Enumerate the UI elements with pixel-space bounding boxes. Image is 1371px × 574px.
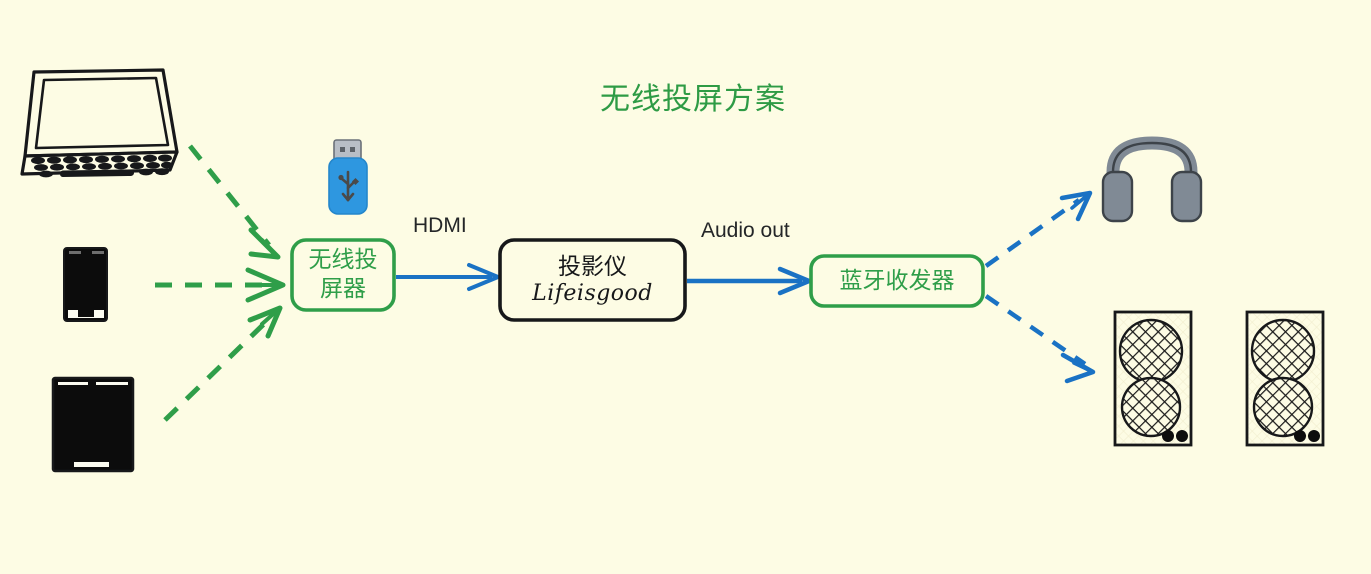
green-dashed-arrow-laptop bbox=[190, 146, 278, 257]
speaker-icon-right bbox=[1247, 312, 1323, 445]
tablet-icon bbox=[53, 378, 133, 471]
green-dashed-arrow-tablet bbox=[165, 308, 280, 420]
diagram-canvas: 无线投屏方案 无线投 屏器 投影仪 Lifeisgood 蓝牙收发器 HDMI … bbox=[0, 0, 1371, 574]
hdmi-connector-arrow bbox=[396, 265, 498, 289]
node-wireless-caster[interactable] bbox=[292, 240, 394, 310]
usb-dongle-icon bbox=[329, 140, 367, 214]
blue-dashed-arrow-headphones bbox=[986, 193, 1090, 266]
laptop-icon bbox=[22, 70, 177, 177]
edge-label-audio-out: Audio out bbox=[701, 219, 790, 243]
speaker-icon-left bbox=[1115, 312, 1191, 445]
audio-out-connector-arrow bbox=[687, 269, 809, 293]
node-projector[interactable] bbox=[500, 240, 685, 320]
diagram-title: 无线投屏方案 bbox=[600, 74, 786, 118]
headphones-icon bbox=[1103, 143, 1201, 221]
node-bluetooth-transceiver[interactable] bbox=[811, 256, 983, 306]
green-dashed-arrow-phone bbox=[155, 270, 283, 300]
edge-label-hdmi: HDMI bbox=[413, 214, 467, 238]
blue-dashed-arrow-speakers bbox=[986, 296, 1093, 381]
smartphone-icon bbox=[64, 248, 107, 321]
